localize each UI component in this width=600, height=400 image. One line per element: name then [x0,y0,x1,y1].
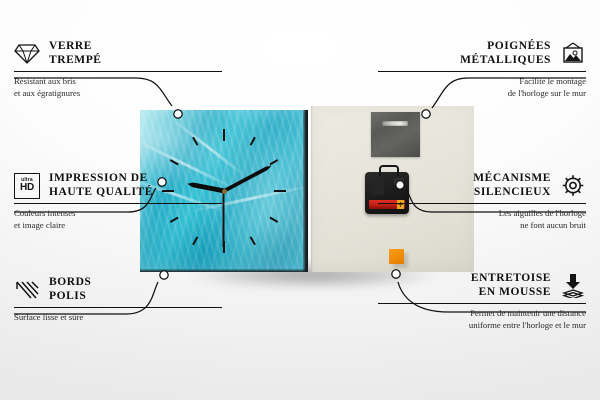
feature-header: BORDS POLIS [14,276,222,303]
hanging-frame-icon [560,41,586,67]
feature-verre-trempe: VERRE TREMPÉ Résistant aux bris et aux é… [14,40,222,99]
feature-title: IMPRESSION DE HAUTE QUALITÉ [49,172,153,199]
back-panel-edge [311,106,313,272]
feature-mecanisme: MÉCANISME SILENCIEUX Les aiguilles de l'… [378,172,586,231]
clock-center-cap [222,189,227,194]
feature-entretoise: ENTRETOISE EN MOUSSE Permet de maintenir… [378,272,586,331]
spacer-arrow-icon [560,273,586,299]
feature-rule [378,71,586,72]
feature-poignees: POIGNÉES MÉTALLIQUES Facilite le montage… [378,40,586,99]
feature-title: MÉCANISME SILENCIEUX [473,172,551,199]
feature-subtitle: Permet de maintenir une distance uniform… [378,308,586,331]
feature-rule [378,203,586,204]
feature-rule [14,307,222,308]
diamond-icon [14,41,40,67]
metal-bracket [371,112,420,157]
feature-header: VERRE TREMPÉ [14,40,222,67]
ultra-hd-icon: ultra HD [14,173,40,199]
feature-impression: ultra HD IMPRESSION DE HAUTE QUALITÉ Cou… [14,172,222,231]
feature-header: ultra HD IMPRESSION DE HAUTE QUALITÉ [14,172,222,199]
feature-subtitle: Surface lisse et sûre [14,312,222,323]
feature-subtitle: Les aiguilles de l'horloge ne font aucun… [378,208,586,231]
product-infographic: VERRE TREMPÉ Résistant aux bris et aux é… [0,0,600,400]
feature-title: POIGNÉES MÉTALLIQUES [460,40,551,67]
feature-title: ENTRETOISE EN MOUSSE [471,272,551,299]
feature-subtitle: Facilite le montage de l'horloge sur le … [378,76,586,99]
foam-spacer [389,249,404,264]
feature-title: VERRE TREMPÉ [49,40,102,67]
feature-title: BORDS POLIS [49,276,91,303]
feature-bords-polis: BORDS POLIS Surface lisse et sûre [14,276,222,324]
feature-rule [14,203,222,204]
feature-rule [14,71,222,72]
feature-header: ENTRETOISE EN MOUSSE [378,272,586,299]
feature-rule [378,303,586,304]
polished-edges-icon [14,277,40,303]
ultra-hd-icon-label-main: HD [20,183,34,193]
gear-icon [560,173,586,199]
feature-subtitle: Résistant aux bris et aux égratignures [14,76,222,99]
feature-header: POIGNÉES MÉTALLIQUES [378,40,586,67]
clock-marker-12 [223,129,225,191]
feature-header: MÉCANISME SILENCIEUX [378,172,586,199]
bracket-slot [382,121,408,126]
feature-subtitle: Couleurs intenses et image claire [14,208,222,231]
clock-marker-3 [224,190,286,192]
